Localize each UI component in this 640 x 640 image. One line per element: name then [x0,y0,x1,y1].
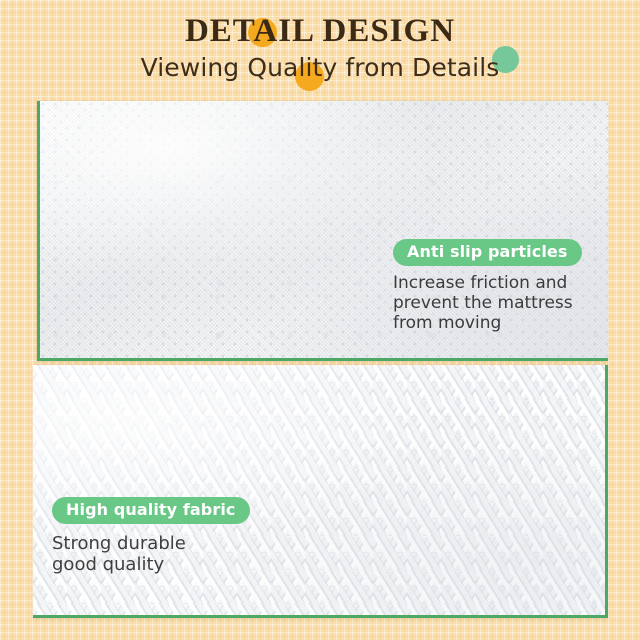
detail-design-page: DETAIL DESIGN Viewing Quality from Detai… [0,0,640,640]
page-subtitle: Viewing Quality from Details [141,49,500,87]
page-title: DETAIL DESIGN [185,11,455,51]
callout-fabric-description: Strong durable good quality [52,533,262,575]
subtitle-row: Viewing Quality from Details [0,49,640,87]
badge-anti-slip-particles: Anti slip particles [393,239,582,266]
product-image-quilted-fabric [33,365,608,618]
callout-anti-slip-description: Increase friction and prevent the mattre… [393,273,593,333]
callout-anti-slip: Anti slip particles Increase friction an… [393,239,593,333]
callout-high-quality-fabric: High quality fabric Strong durable good … [52,497,262,575]
fabric-texture-chevron [33,365,605,615]
title-row: DETAIL DESIGN [0,11,640,51]
page-header: DETAIL DESIGN Viewing Quality from Detai… [0,0,640,96]
badge-high-quality-fabric: High quality fabric [52,497,250,524]
